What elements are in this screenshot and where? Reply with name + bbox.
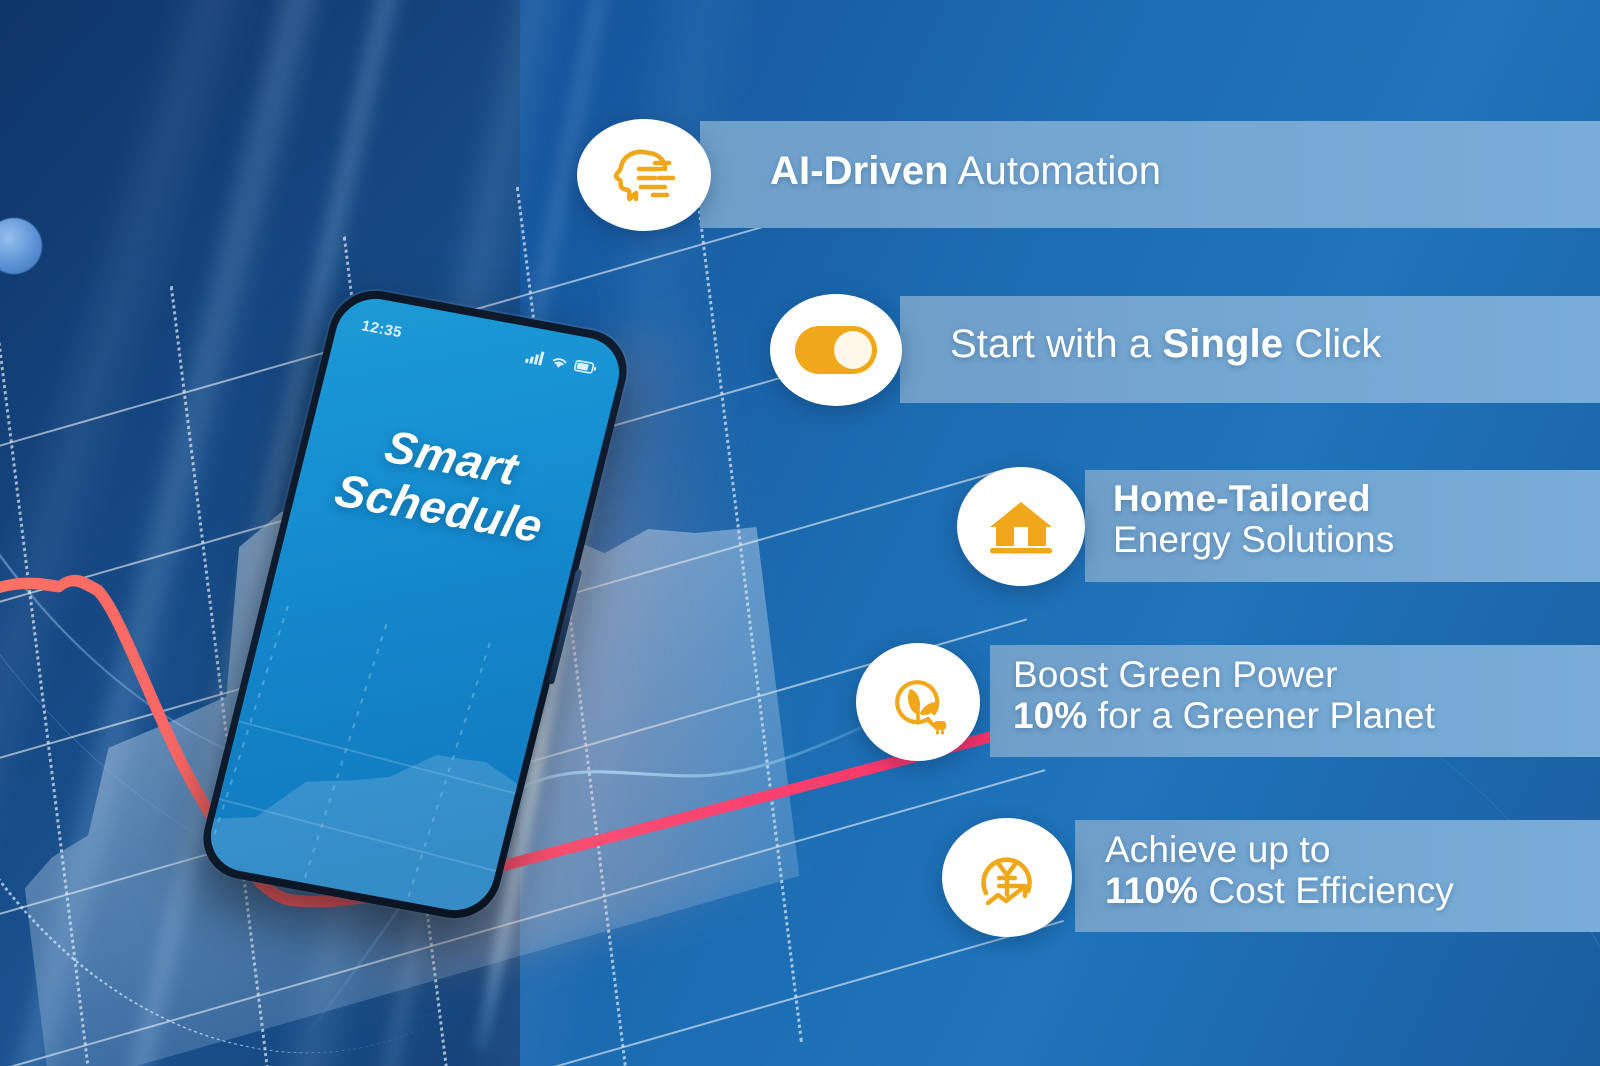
feature-icon-badge-cost-efficiency[interactable] xyxy=(942,818,1072,937)
feature-label-ai-driven-automation: AI-Driven Automation xyxy=(770,149,1161,194)
leaf-plug-icon xyxy=(884,669,952,735)
feature-label-line: Start with a Single Click xyxy=(950,322,1382,367)
house-icon xyxy=(986,496,1056,558)
feature-label-text: Automation xyxy=(949,149,1161,193)
feature-label-text: Boost Green Power xyxy=(1013,654,1338,695)
feature-list: AI-Driven Automation Start with a Single… xyxy=(0,0,1600,1066)
feature-label-text: Achieve up to xyxy=(1105,829,1331,870)
feature-label-emphasis: 110% xyxy=(1105,870,1198,911)
feature-label-line: 110% Cost Efficiency xyxy=(1105,870,1454,911)
feature-label-line: Home-Tailored xyxy=(1113,478,1394,519)
feature-label-text: Click xyxy=(1283,322,1381,366)
feature-label-boost-green-power: Boost Green Power10% for a Greener Plane… xyxy=(1013,654,1435,737)
feature-label-line: AI-Driven Automation xyxy=(770,149,1161,194)
ai-head-icon xyxy=(611,145,677,205)
toggle-switch-knob xyxy=(834,331,872,369)
toggle-switch-icon[interactable] xyxy=(795,326,877,374)
infographic-canvas: 12:35 xyxy=(0,0,1600,1066)
feature-label-line: Boost Green Power xyxy=(1013,654,1435,695)
feature-label-line: Achieve up to xyxy=(1105,829,1454,870)
feature-icon-badge-boost-green-power[interactable] xyxy=(856,643,980,761)
feature-label-emphasis: Single xyxy=(1163,322,1284,366)
feature-label-single-click: Start with a Single Click xyxy=(950,322,1382,367)
feature-label-line: 10% for a Greener Planet xyxy=(1013,695,1435,736)
feature-label-cost-efficiency: Achieve up to110% Cost Efficiency xyxy=(1105,829,1454,912)
feature-label-text: Energy Solutions xyxy=(1113,519,1394,560)
feature-label-emphasis: 10% xyxy=(1013,695,1087,736)
feature-icon-badge-home-tailored-energy[interactable] xyxy=(957,467,1085,586)
feature-label-text: Start with a xyxy=(950,322,1163,366)
feature-label-emphasis: Home-Tailored xyxy=(1113,478,1371,519)
feature-label-line: Energy Solutions xyxy=(1113,519,1394,560)
feature-label-home-tailored-energy: Home-TailoredEnergy Solutions xyxy=(1113,478,1394,561)
feature-label-text: Cost Efficiency xyxy=(1198,870,1454,911)
feature-label-emphasis: AI-Driven xyxy=(770,149,949,193)
feature-icon-badge-ai-driven-automation[interactable] xyxy=(577,119,711,231)
feature-icon-badge-single-click[interactable] xyxy=(770,294,902,406)
yen-growth-icon xyxy=(972,845,1042,911)
feature-label-text: for a Greener Planet xyxy=(1087,695,1435,736)
